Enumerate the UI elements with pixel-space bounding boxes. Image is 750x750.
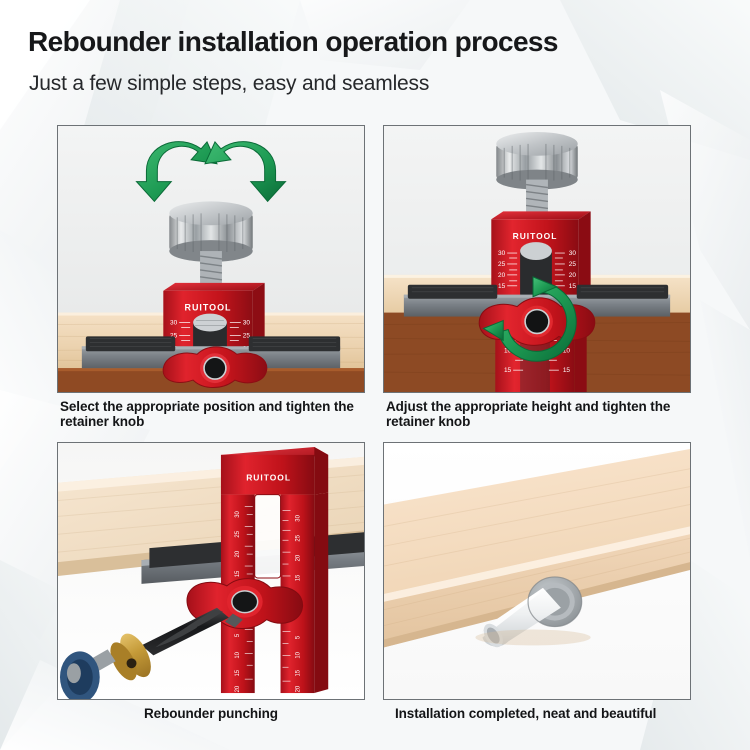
step-2-caption: Adjust the appropriate height and tighte… (386, 399, 698, 429)
svg-text:15: 15 (498, 283, 506, 290)
step-1-caption: Select the appropriate position and tigh… (60, 399, 372, 429)
svg-text:20: 20 (235, 685, 241, 692)
retainer-lever-knob (479, 298, 595, 346)
svg-text:30: 30 (295, 514, 301, 521)
svg-text:25: 25 (569, 261, 577, 268)
step-3-caption: Rebounder punching (57, 706, 365, 721)
page-subtitle: Just a few simple steps, easy and seamle… (29, 72, 429, 96)
svg-text:30: 30 (498, 250, 506, 257)
svg-text:25: 25 (235, 530, 241, 537)
svg-text:15: 15 (295, 574, 301, 581)
svg-text:20: 20 (569, 272, 577, 279)
svg-text:25: 25 (498, 261, 506, 268)
svg-text:20: 20 (295, 685, 301, 692)
svg-text:20: 20 (498, 272, 506, 279)
svg-text:30: 30 (170, 320, 178, 327)
svg-text:20: 20 (235, 550, 241, 557)
svg-text:20: 20 (295, 554, 301, 561)
svg-text:15: 15 (235, 570, 241, 577)
brand-label: RUITOOL (246, 473, 291, 483)
svg-text:15: 15 (295, 669, 301, 676)
svg-text:15: 15 (504, 367, 512, 374)
step-4-image-panel (383, 442, 691, 700)
step-3-image-panel: RUITOOL 30 25 20 15 10 30 25 20 15 10 5 … (57, 442, 365, 700)
svg-text:25: 25 (295, 534, 301, 541)
step-1-image-panel: RUITOOL 30 25 20 15 3025 2015 (57, 125, 365, 393)
brand-label: RUITOOL (513, 231, 558, 241)
step-2-image-panel: RUITOOL 30 25 20 15 3025 2015 (383, 125, 691, 393)
step-3-illustration: RUITOOL 30 25 20 15 10 30 25 20 15 10 5 … (58, 443, 364, 699)
svg-text:10: 10 (235, 651, 241, 658)
step-2-illustration: RUITOOL 30 25 20 15 3025 2015 (384, 126, 690, 392)
svg-text:15: 15 (235, 669, 241, 676)
brand-label: RUITOOL (185, 303, 232, 313)
svg-text:15: 15 (569, 283, 577, 290)
page-title: Rebounder installation operation process (28, 26, 558, 58)
step-4-illustration (384, 443, 690, 699)
step-4-caption: Installation completed, neat and beautif… (395, 706, 715, 721)
svg-text:30: 30 (243, 320, 251, 327)
svg-text:30: 30 (235, 510, 241, 517)
svg-text:15: 15 (563, 367, 571, 374)
svg-text:10: 10 (295, 651, 301, 658)
step-1-illustration: RUITOOL 30 25 20 15 3025 2015 (58, 126, 364, 392)
svg-text:30: 30 (569, 250, 577, 257)
